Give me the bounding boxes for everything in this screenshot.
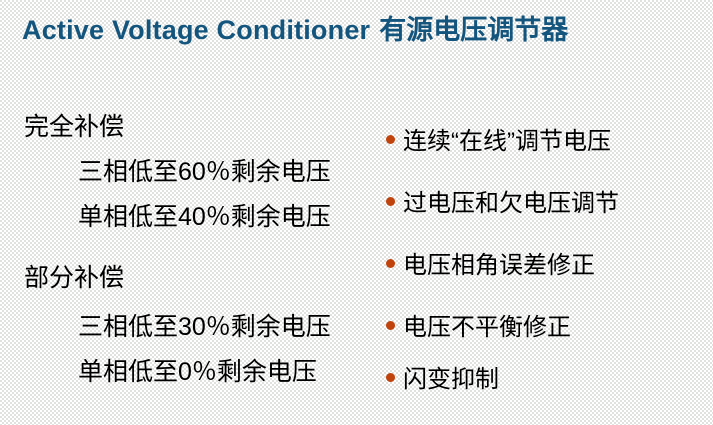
group-heading-partial-compensation: 部分补偿	[24, 263, 124, 293]
list-item: 连续“在线”调节电压	[386, 128, 611, 156]
list-item-label: 电压不平衡修正	[403, 314, 571, 342]
compensation-list: 完全补偿 三相低至60％剩余电压 单相低至40％剩余电压 部分补偿 三相低至30…	[0, 100, 368, 400]
slide-canvas: Active Voltage Conditioner有源电压调节器 完全补偿 三…	[0, 0, 713, 425]
list-item: 过电压和欠电压调节	[386, 190, 619, 218]
bullet-dot-icon	[386, 321, 395, 330]
bullet-dot-icon	[386, 135, 395, 144]
list-item: 闪变抑制	[386, 366, 499, 394]
group-item-partial-single-phase: 单相低至0％剩余电压	[78, 357, 317, 387]
group-item-full-three-phase: 三相低至60％剩余电压	[78, 157, 331, 187]
list-item-label: 过电压和欠电压调节	[403, 190, 619, 218]
bullet-dot-icon	[386, 259, 395, 268]
bullet-dot-icon	[386, 373, 395, 382]
feature-bullet-list: 连续“在线”调节电压 过电压和欠电压调节 电压相角误差修正 电压不平衡修正 闪变…	[386, 118, 706, 403]
page-title-chinese: 有源电压调节器	[379, 15, 568, 45]
group-item-full-single-phase: 单相低至40％剩余电压	[78, 202, 331, 232]
list-item-label: 电压相角误差修正	[403, 252, 595, 280]
list-item-label: 闪变抑制	[403, 366, 499, 394]
list-item-label: 连续“在线”调节电压	[403, 128, 611, 156]
list-item: 电压相角误差修正	[386, 252, 595, 280]
group-heading-full-compensation: 完全补偿	[24, 112, 124, 142]
bullet-dot-icon	[386, 197, 395, 206]
list-item: 电压不平衡修正	[386, 314, 571, 342]
group-item-partial-three-phase: 三相低至30％剩余电压	[78, 312, 331, 342]
page-title-english: Active Voltage Conditioner	[22, 15, 370, 45]
page-title: Active Voltage Conditioner有源电压调节器	[22, 8, 702, 52]
